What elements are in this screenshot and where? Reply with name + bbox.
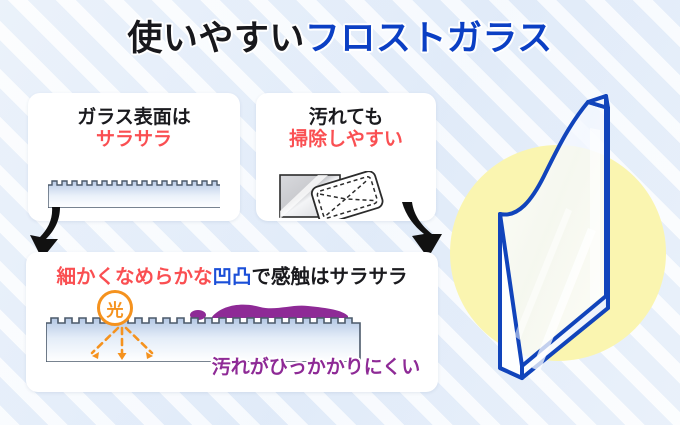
down-arrow-right [392, 200, 448, 260]
card-clean-heading-line2: 掃除しやすい [256, 128, 436, 150]
card-surface-heading-line1: ガラス表面は [28, 106, 240, 128]
card-glass-surface: ガラス表面は サラサラ [28, 93, 240, 221]
detail-headline-dark: で感触はサラサラ [252, 265, 408, 288]
light-badge-label: 光 [107, 296, 124, 321]
frosted-glass-3d-slab [440, 68, 678, 408]
frosted-surface-strip-figure [48, 178, 220, 208]
arrow-right-glyph [402, 202, 442, 258]
infographic-canvas: 使いやすいフロストガラス ガラス表面は [0, 0, 680, 425]
title-part-dark: 使いやすい [127, 19, 305, 59]
title-part-blue: フロストガラス [305, 19, 553, 59]
card-clean-heading: 汚れても 掃除しやすい [256, 93, 436, 151]
light-badge: 光 [97, 290, 133, 326]
detail-headline-red: 細かくなめらかな [56, 265, 212, 288]
detail-headline: 細かくなめらかな凹凸で感触はサラサラ [26, 260, 438, 289]
dirt-caption: 汚れがひっかかりにくい [200, 352, 432, 379]
card-surface-heading-line2: サラサラ [28, 128, 240, 150]
detail-headline-blue: 凹凸 [212, 265, 251, 288]
card-clean-heading-line1: 汚れても [256, 106, 436, 128]
page-title: 使いやすいフロストガラス [0, 22, 680, 57]
glass-inner-edge-sheen [590, 128, 600, 304]
crenellated-glass-profile [48, 181, 220, 208]
card-surface-heading: ガラス表面は サラサラ [28, 93, 240, 151]
